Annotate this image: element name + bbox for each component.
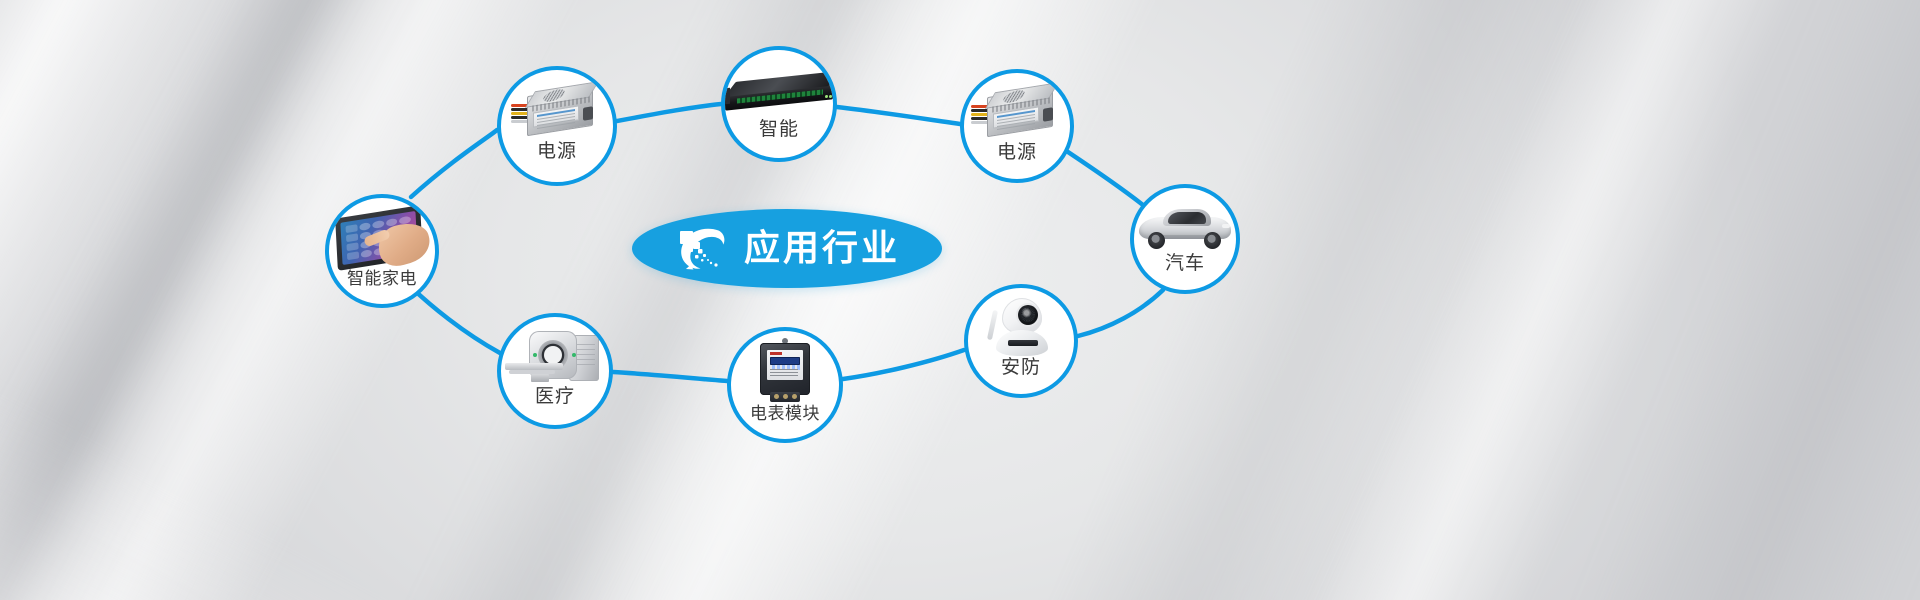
rack-server-icon [725,75,833,115]
node-artwork [731,331,839,405]
node-artwork [725,50,833,120]
node-label: 医疗 [535,387,575,406]
application-industry-diagram: 智能家电 电源 [0,0,1920,600]
node-label: 安防 [1001,358,1041,377]
node-label: 汽车 [1165,254,1205,273]
ct-scanner-icon [505,329,605,385]
ip-camera-icon [984,296,1058,358]
node-label: 电表模块 [750,405,820,422]
node-artwork [964,73,1070,143]
node-artwork [1134,188,1236,254]
node-artwork [501,70,613,142]
center-badge[interactable]: 应用行业 [632,209,942,288]
node-label: 智能家电 [347,270,417,287]
car-icon [1137,203,1233,251]
node-smart-home[interactable]: 智能家电 [325,194,439,308]
node-meter-module[interactable]: 电表模块 [727,327,843,443]
connector-meter-medical [613,372,727,381]
node-smart[interactable]: 智能 [721,46,837,162]
electric-meter-icon [756,337,814,405]
connector-ring [0,0,1920,600]
node-artwork [501,317,609,387]
connector-smarthome-power [411,130,497,197]
connector-smart-power [837,107,960,124]
node-security[interactable]: 安防 [964,284,1078,398]
orbit-pixel-logo-icon [674,225,730,273]
tablet-touch-icon [334,208,430,268]
node-automotive[interactable]: 汽车 [1130,184,1240,294]
node-label: 电源 [997,143,1037,162]
center-badge-title: 应用行业 [744,230,900,268]
connector-medical-smarthome [412,288,500,353]
power-supply-icon [511,87,603,139]
connector-security-meter [843,350,964,379]
node-artwork [329,198,435,270]
connector-power-smart [617,104,721,121]
connector-auto-security [1078,290,1163,336]
node-power-left[interactable]: 电源 [497,66,617,186]
node-label: 智能 [759,120,799,139]
node-medical[interactable]: 医疗 [497,313,613,429]
node-power-right[interactable]: 电源 [960,69,1074,183]
node-artwork [968,288,1074,358]
node-label: 电源 [537,142,577,161]
power-supply-icon [971,88,1063,140]
